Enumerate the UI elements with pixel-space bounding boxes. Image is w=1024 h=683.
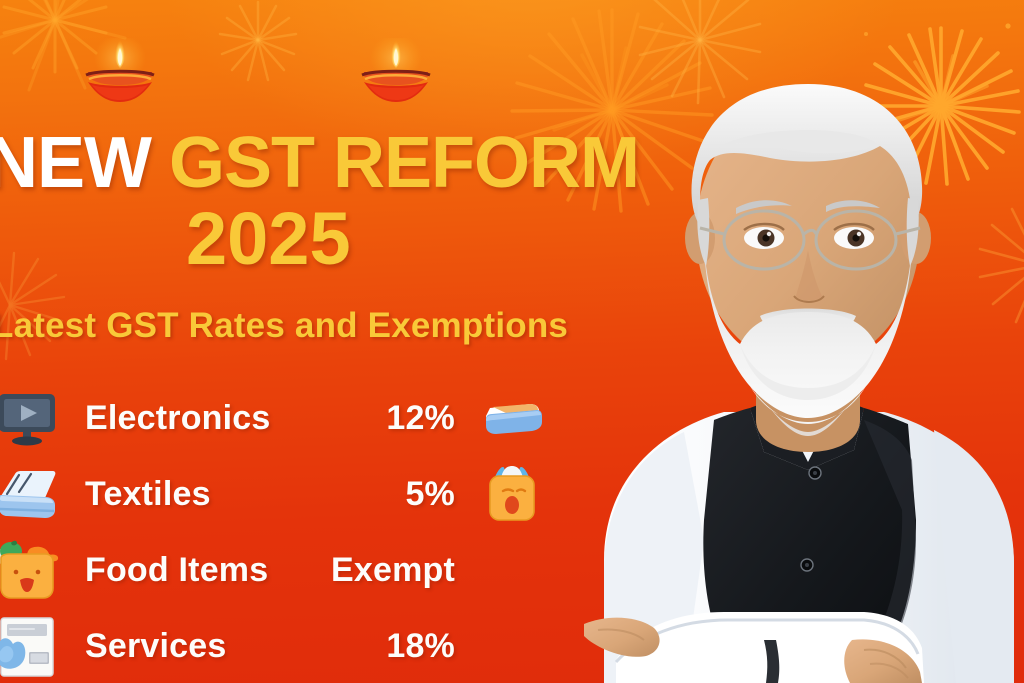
rate-value: 12% [270, 399, 455, 438]
rate-label: Services [85, 627, 227, 666]
gst-reform-poster: NEWGST REFORM 2025 Latest GST Rates and … [0, 0, 1024, 683]
headline-block: NEWGST REFORM 2025 [0, 129, 636, 276]
framed-picture-icon [0, 613, 60, 679]
rate-value: 18% [270, 627, 455, 666]
table-row: Food Items Exempt [0, 532, 580, 608]
rate-label: Textiles [85, 475, 211, 514]
page-subtitle: Latest GST Rates and Exemptions [0, 306, 568, 346]
shopping-bag-icon [480, 462, 544, 526]
grocery-bag-icon [0, 537, 60, 603]
table-row: Electronics 12% [0, 380, 580, 456]
rate-value: Exempt [270, 551, 455, 590]
rate-label: Electronics [85, 399, 271, 438]
portrait-photo [564, 0, 1024, 683]
table-row: Services 18% [0, 608, 580, 683]
headline-line-1: NEWGST REFORM [0, 129, 636, 198]
diya-lamp-icon [80, 38, 160, 115]
television-icon [0, 385, 60, 451]
diya-lamp-icon [356, 38, 436, 115]
rate-value: 5% [270, 475, 455, 514]
gst-rates-list: Electronics 12% [0, 380, 580, 683]
bed-icon [0, 461, 60, 527]
table-row: Textiles 5% [0, 456, 580, 532]
rate-label: Food Items [85, 551, 268, 590]
bed-icon [480, 386, 544, 450]
headline-word-new: NEW [0, 123, 151, 203]
